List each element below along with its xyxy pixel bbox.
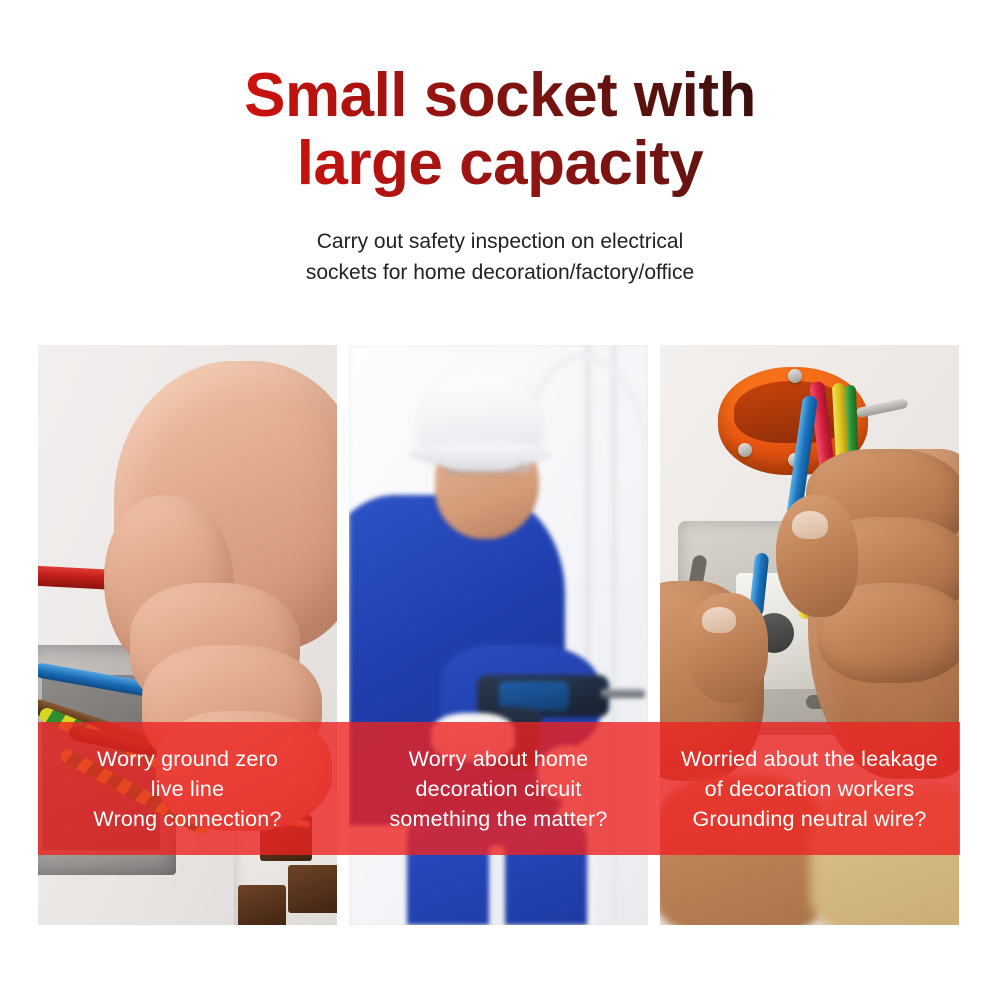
caption-1-line-2: live line: [151, 774, 225, 804]
subtitle-line-2: sockets for home decoration/factory/offi…: [0, 257, 1000, 288]
caption-2-line-2: decoration circuit: [415, 774, 581, 804]
caption-1-line-3: Wrong connection?: [93, 804, 281, 834]
caption-1-line-1: Worry ground zero: [97, 744, 278, 774]
hard-hat-brim: [409, 441, 551, 467]
caption-3-line-3: Grounding neutral wire?: [692, 804, 926, 834]
caption-3-line-1: Worried about the leakage: [681, 744, 938, 774]
caption-block-2: Worry about home decoration circuit some…: [349, 722, 648, 855]
caption-block-1: Worry ground zero live line Wrong connec…: [38, 722, 337, 855]
subtitle-block: Carry out safety inspection on electrica…: [0, 226, 1000, 288]
title-line-1: Small socket with: [0, 62, 1000, 130]
right-thumb-nail: [792, 511, 828, 539]
page-title: Small socket with large capacity: [0, 62, 1000, 198]
subtitle-line-1: Carry out safety inspection on electrica…: [0, 226, 1000, 257]
caption-overlay-band: Worry ground zero live line Wrong connec…: [38, 722, 960, 855]
caption-3-line-2: of decoration workers: [705, 774, 915, 804]
caption-block-3: Worried about the leakage of decoration …: [660, 722, 959, 855]
drill-bit: [601, 689, 645, 698]
caption-2-line-1: Worry about home: [409, 744, 589, 774]
caption-2-line-3: something the matter?: [389, 804, 607, 834]
left-thumb-nail: [702, 607, 736, 633]
product-banner: Small socket with large capacity Carry o…: [0, 0, 1000, 1000]
terminal-block-3: [238, 885, 286, 925]
leg-gap: [489, 845, 505, 925]
back-box-screw-1: [738, 443, 752, 457]
terminal-block-2: [288, 865, 337, 913]
header: Small socket with large capacity: [0, 62, 1000, 198]
title-line-2: large capacity: [0, 130, 1000, 198]
back-box-screw-2: [788, 369, 802, 383]
